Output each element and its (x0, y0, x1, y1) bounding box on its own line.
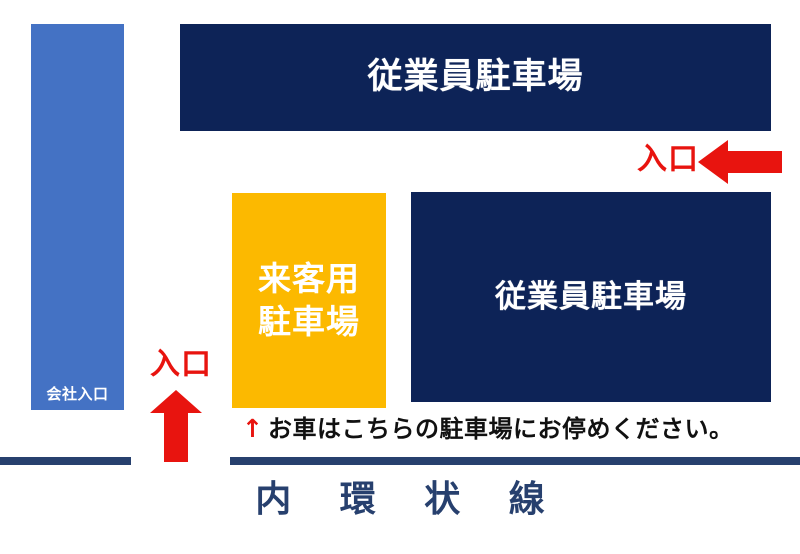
parking-instruction: ↑ お車はこちらの駐車場にお停めください。 (242, 416, 733, 441)
company-entrance-label: 会社入口 (46, 387, 108, 402)
employee-parking-right-label: 従業員駐車場 (495, 280, 687, 315)
road-name-label: 内 環 状 線 (0, 482, 800, 518)
employee-parking-area-right: 従業員駐車場 (411, 192, 771, 402)
visitor-parking-area: 来客用 駐車場 (232, 193, 386, 408)
parking-map-diagram: 会社入口 従業員駐車場 来客用 駐車場 従業員駐車場 入口 入口 ↑ お車はこち… (0, 0, 800, 554)
arrow-left-icon (698, 140, 782, 184)
entrance-label-right: 入口 (637, 145, 699, 175)
company-entrance-bar: 会社入口 (31, 24, 124, 410)
road-line-right-segment (230, 457, 800, 465)
instruction-text: お車はこちらの駐車場にお停めください。 (268, 417, 734, 441)
employee-parking-top-label: 従業員駐車場 (367, 58, 583, 97)
visitor-parking-label-line2: 駐車場 (258, 301, 360, 343)
instruction-arrow-up-icon: ↑ (242, 416, 263, 441)
visitor-parking-label-line1: 来客用 (258, 258, 360, 300)
entrance-label-bottom: 入口 (150, 350, 212, 380)
employee-parking-area-top: 従業員駐車場 (180, 24, 771, 131)
arrow-up-icon (150, 390, 202, 462)
road-line-left-segment (0, 457, 131, 465)
